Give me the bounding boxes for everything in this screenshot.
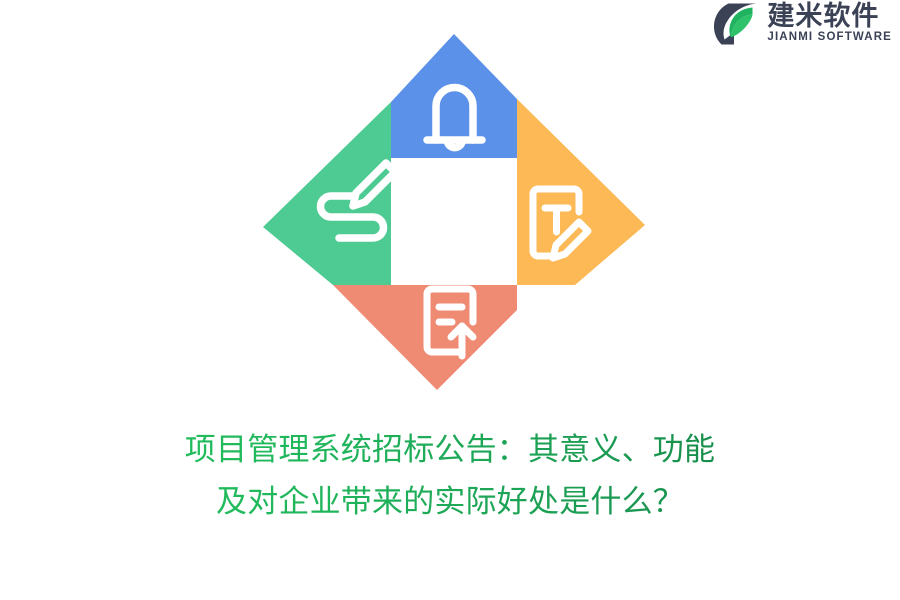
page-title-line-2: 及对企业带来的实际好处是什么？ (0, 476, 900, 528)
page-title: 项目管理系统招标公告：其意义、功能 及对企业带来的实际好处是什么？ (0, 424, 900, 528)
hero-quadrant-bottom (333, 285, 517, 390)
brand-text: 建米软件 JIANMI SOFTWARE (767, 3, 892, 45)
hero-diamond-graphic (255, 26, 655, 398)
brand-name-en: JIANMI SOFTWARE (767, 31, 892, 45)
hero-quadrant-left (263, 102, 395, 285)
jianmi-leaf-logo-icon (711, 2, 759, 46)
page-title-line-1: 项目管理系统招标公告：其意义、功能 (0, 424, 900, 476)
brand-name-cn: 建米软件 (767, 3, 892, 31)
hero-center-square (391, 158, 517, 285)
brand-logo[interactable]: 建米软件 JIANMI SOFTWARE (711, 0, 892, 48)
hero-quadrant-top (391, 34, 517, 158)
hero-quadrant-right (517, 99, 645, 285)
